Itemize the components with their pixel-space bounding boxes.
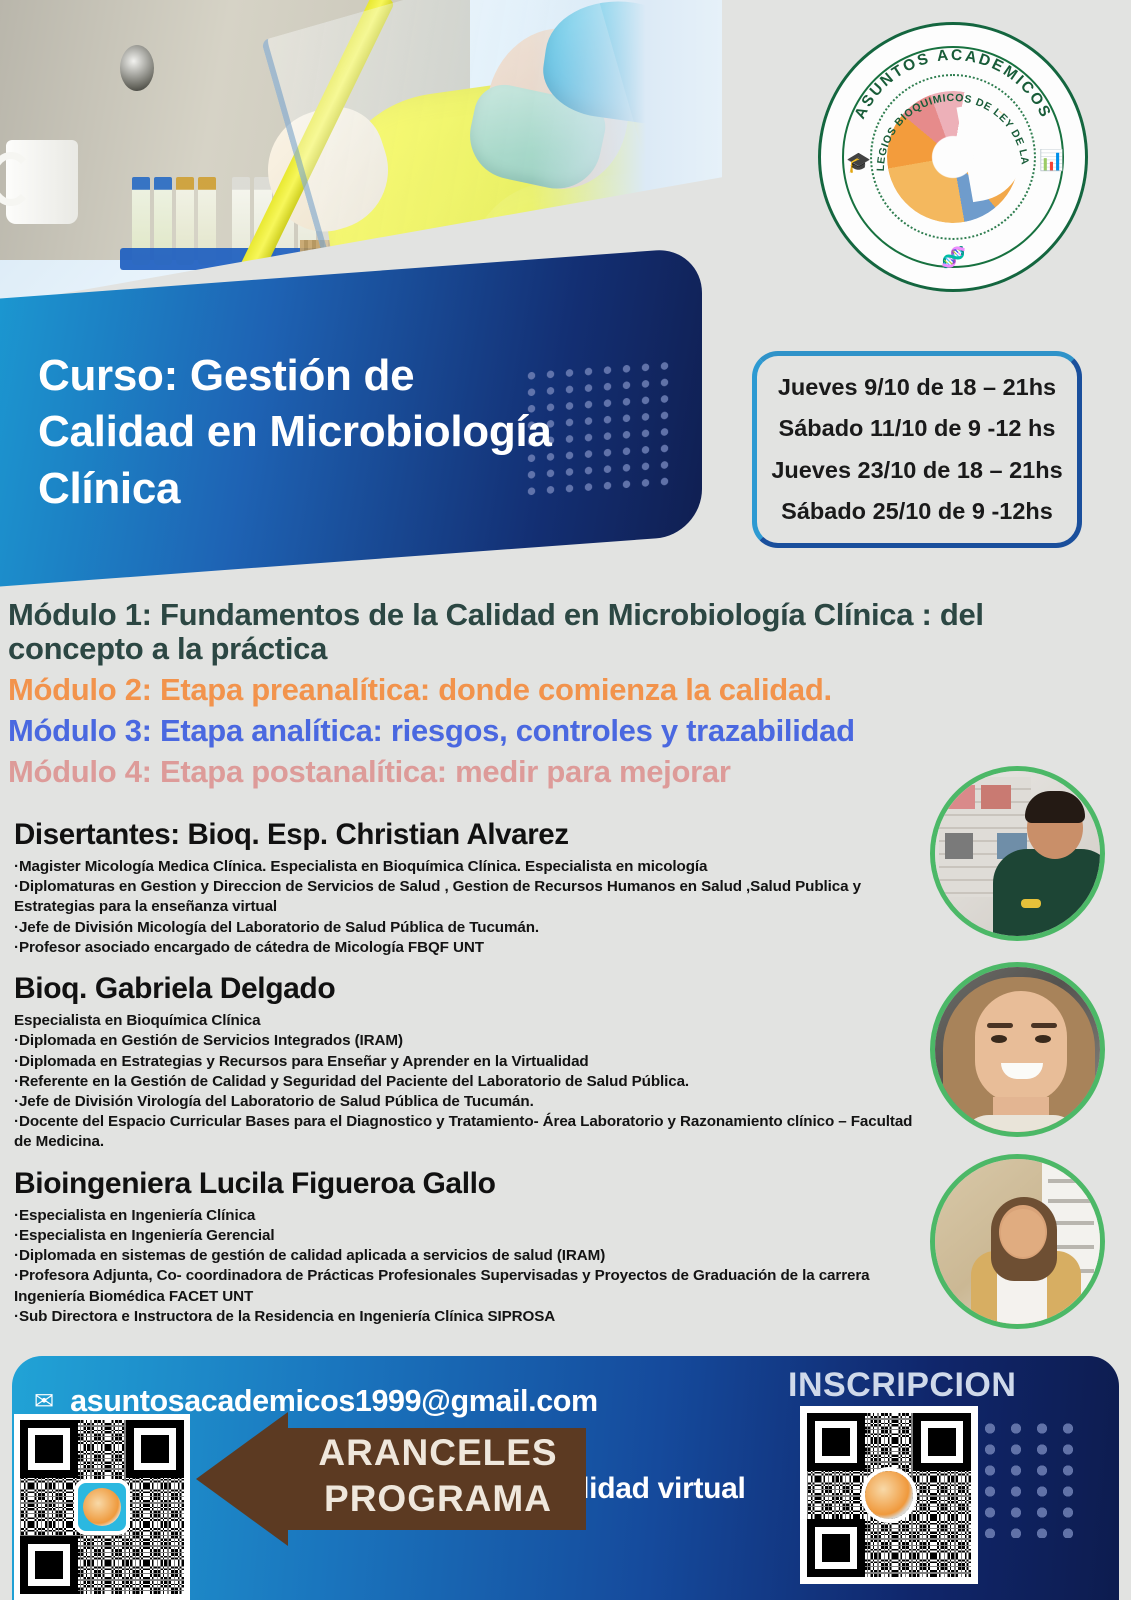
lab-jug — [6, 140, 78, 224]
speaker-credential: ·Profesora Adjunta, Co- coordinadora de … — [14, 1266, 914, 1306]
speaker-block: Bioq. Gabriela Delgado Especialista en B… — [14, 972, 914, 1153]
module-item-1: Módulo 1: Fundamentos de la Calidad en M… — [8, 598, 1032, 666]
qr-finder-top-left — [807, 1413, 865, 1471]
dna-icon: 🧬 — [941, 245, 966, 270]
photo-person-face — [975, 991, 1067, 1103]
photo-person-shirt — [961, 1115, 1081, 1137]
qr-finder-top-right — [913, 1413, 971, 1471]
schedule-box: Jueves 9/10 de 18 – 21hs Sábado 11/10 de… — [752, 351, 1082, 548]
qr-finder-bottom-left — [20, 1536, 78, 1594]
logo-outer-text: ASUNTOS ACADEMICOS — [851, 47, 1054, 122]
speaker-credential: ·Jefe de División Virología del Laborato… — [14, 1092, 914, 1112]
speaker-credential: ·Diplomada en sistemas de gestión de cal… — [14, 1246, 914, 1266]
qr-pattern — [807, 1413, 971, 1577]
photo-detail — [945, 785, 975, 809]
bar-chart-icon: 📊 — [1039, 148, 1064, 173]
inscripcion-heading: INSCRIPCION — [788, 1366, 1016, 1405]
photo-detail — [1048, 1199, 1094, 1203]
speaker-name: Bioingeniera Lucila Figueroa Gallo — [14, 1167, 914, 1201]
speaker-name: Bioq. Gabriela Delgado — [14, 972, 914, 1006]
photo-detail — [1035, 1035, 1051, 1043]
photo-wristband — [1021, 899, 1041, 908]
speaker-credential: ·Diplomaturas en Gestion y Direccion de … — [14, 877, 914, 917]
arrow-label-aranceles: ARANCELES — [288, 1432, 588, 1474]
speaker-block: Disertantes: Bioq. Esp. Christian Alvare… — [14, 818, 914, 958]
qr-finder-bottom-left — [807, 1519, 865, 1577]
speaker-credential: ·Magister Micología Medica Clínica. Espe… — [14, 857, 914, 877]
speaker-credential: ·Especialista en Ingeniería Gerencial — [14, 1226, 914, 1246]
module-item-3: Módulo 3: Etapa analítica: riesgos, cont… — [8, 714, 1032, 748]
photo-detail — [987, 1023, 1013, 1028]
module-item-4: Módulo 4: Etapa postanalítica: medir par… — [8, 755, 1032, 789]
qr-code-aranceles-programa[interactable] — [14, 1414, 190, 1600]
photo-detail — [945, 833, 973, 859]
module-list: Módulo 1: Fundamentos de la Calidad en M… — [8, 598, 1032, 796]
speaker-credential: ·Jefe de División Micología del Laborato… — [14, 918, 914, 938]
speaker-credential: Especialista en Bioquímica Clínica — [14, 1011, 914, 1031]
page-title: Curso: Gestión de Calidad en Microbiolog… — [38, 348, 578, 517]
speaker-name: Disertantes: Bioq. Esp. Christian Alvare… — [14, 818, 914, 852]
speaker-credential: ·Profesor asociado encargado de cátedra … — [14, 938, 914, 958]
arrow-label-programa: PROGRAMA — [288, 1478, 588, 1520]
photo-detail — [991, 1035, 1007, 1043]
aranceles-programa-arrow[interactable]: ARANCELES PROGRAMA — [196, 1412, 586, 1546]
qr-center-logo — [865, 1471, 913, 1519]
speaker-credential: ·Docente del Espacio Curricular Bases pa… — [14, 1112, 914, 1152]
speaker-photo-gabriela-delgado — [930, 962, 1105, 1137]
speaker-photo-lucila-figueroa-gallo — [930, 1154, 1105, 1329]
arrow-head-icon — [196, 1412, 288, 1546]
speaker-credential: ·Diplomada en Estrategias y Recursos par… — [14, 1052, 914, 1072]
qr-code-inscripcion[interactable] — [800, 1406, 978, 1584]
photo-person-face — [1001, 1209, 1045, 1257]
schedule-line: Sábado 25/10 de 9 -12hs — [781, 498, 1053, 525]
qr-center-logo — [78, 1483, 126, 1531]
speaker-credential: ·Especialista en Ingeniería Clínica — [14, 1206, 914, 1226]
photo-detail — [1048, 1179, 1094, 1183]
module-item-2: Módulo 2: Etapa preanalítica: donde comi… — [8, 673, 1032, 707]
graduation-cap-icon: 🎓 — [846, 150, 871, 175]
lab-porthole — [120, 45, 154, 91]
organization-logo: ASUNTOS ACADEMICOS COORDINADORA DE COLEG… — [818, 22, 1088, 292]
schedule-line: Sábado 11/10 de 9 -12 hs — [779, 415, 1056, 442]
qr-pattern — [20, 1420, 184, 1594]
speaker-credential: ·Sub Directora e Instructora de la Resid… — [14, 1307, 914, 1327]
photo-person-torso — [993, 849, 1105, 941]
schedule-line: Jueves 23/10 de 18 – 21hs — [771, 457, 1062, 484]
speaker-block: Bioingeniera Lucila Figueroa Gallo ·Espe… — [14, 1167, 914, 1327]
speaker-credential: ·Referente en la Gestión de Calidad y Se… — [14, 1072, 914, 1092]
envelope-icon: ✉ — [34, 1390, 54, 1414]
photo-detail — [1031, 1023, 1057, 1028]
photo-detail — [981, 785, 1011, 809]
speaker-credential: ·Diplomada en Gestión de Servicios Integ… — [14, 1031, 914, 1051]
qr-finder-top-right — [126, 1420, 184, 1478]
speaker-photo-christian-alvarez — [930, 766, 1105, 941]
qr-finder-top-left — [20, 1420, 78, 1478]
svg-text:ASUNTOS ACADEMICOS: ASUNTOS ACADEMICOS — [851, 47, 1054, 122]
speakers-section: Disertantes: Bioq. Esp. Christian Alvare… — [14, 818, 914, 1341]
schedule-line: Jueves 9/10 de 18 – 21hs — [778, 374, 1056, 401]
